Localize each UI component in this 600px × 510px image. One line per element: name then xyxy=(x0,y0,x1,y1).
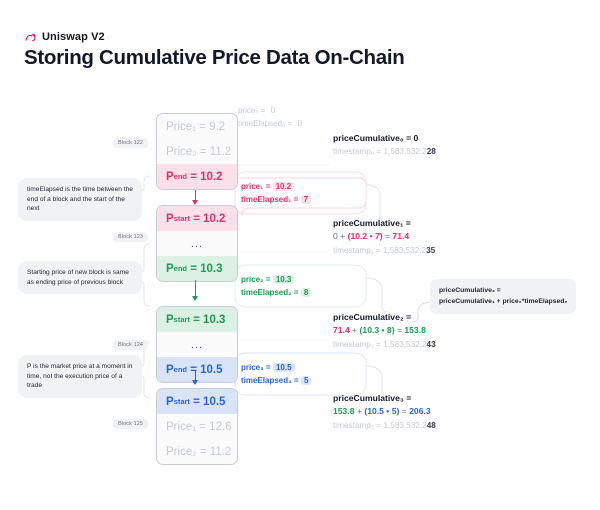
row-text: Price₁ = 9.2 xyxy=(166,121,225,133)
price-label: price₀ = xyxy=(238,106,266,115)
time-label: timeElapsed₀ = xyxy=(238,119,292,128)
price-label: price₃ = xyxy=(241,363,271,372)
formula-line-2: priceCumulative₁ + price₂*timeElapsed₂ xyxy=(439,297,567,308)
unicorn-icon xyxy=(24,30,37,43)
eq-equals: = xyxy=(397,325,402,335)
row-symbol: P xyxy=(166,213,174,225)
eq-plus: + xyxy=(352,325,357,335)
pair-0: price₀ = 0 timeElapsed₀ = 0 xyxy=(238,104,305,130)
time-value: 5 xyxy=(301,376,311,385)
timestamp-suffix: 43 xyxy=(427,340,436,349)
block-row-highlight: Pstart = 10.5 xyxy=(157,389,237,414)
eq-equals: = xyxy=(402,406,407,416)
row-text: Price₂ = 11.2 xyxy=(166,146,231,158)
row-value: = 10.3 xyxy=(193,314,225,326)
cumulative-timestamp: timestamp₁ = 1,583,532,235 xyxy=(333,244,435,258)
price-value: 10.5 xyxy=(273,363,295,372)
pair-price-line: price₂ = 10.3 xyxy=(241,273,311,286)
price-value: 0 xyxy=(268,106,278,115)
timestamp-prefix: timestamp₂ = 1,583,532,2 xyxy=(333,340,427,349)
pair-price-line: price₃ = 10.5 xyxy=(241,361,311,374)
block-label-125: Block 125 xyxy=(113,419,148,429)
arrow-head-124 xyxy=(192,380,198,385)
cumulative-3: priceCumulative₃ = 153.8 + (10.5 • 5) = … xyxy=(333,392,436,433)
eq-term: (10.5 • 5) xyxy=(364,406,399,416)
callout-starting-price: Starting price of new block is same as e… xyxy=(18,261,142,294)
pair-2: price₂ = 10.3 timeElapsed₂ = 8 xyxy=(241,273,311,299)
row-symbol: P xyxy=(166,364,174,376)
row-text: Price₁ = 12.6 xyxy=(166,421,232,433)
row-subscript: end xyxy=(174,264,187,273)
pair-price-line: price₀ = 0 xyxy=(238,104,305,117)
block-card-123[interactable]: Pstart = 10.2 ... Pend = 10.3 xyxy=(156,205,238,282)
row-symbol: P xyxy=(166,396,174,408)
block-card-125[interactable]: Pstart = 10.5 Price₁ = 12.6 Price₂ = 11.… xyxy=(156,388,238,465)
row-symbol: P xyxy=(166,263,174,275)
block-card-122[interactable]: Price₁ = 9.2 Price₂ = 11.2 Pend = 10.2 xyxy=(156,113,238,190)
row-subscript: end xyxy=(174,365,187,374)
cumulative-equation: 0 + (10.2 • 7) = 71.4 xyxy=(333,230,435,244)
block-label-124: Block 124 xyxy=(113,340,148,350)
pair-time-line: timeElapsed₃ = 5 xyxy=(241,374,311,387)
time-label: timeElapsed₂ = xyxy=(241,288,299,297)
brand-name: Uniswap V2 xyxy=(42,31,105,43)
callout-market-price: P is the market price at a moment in tim… xyxy=(18,355,142,398)
eq-plus: + xyxy=(340,231,345,241)
arrow-head-122 xyxy=(192,200,198,205)
price-label: price₁ = xyxy=(241,182,270,191)
eq-operand-a: 71.4 xyxy=(333,325,350,335)
eq-operand-a: 0 xyxy=(333,231,338,241)
pair-1: price₁ = 10.2 timeElapsed₁ = 7 xyxy=(241,180,311,206)
cumulative-header: priceCumulative₁ = xyxy=(333,217,435,230)
pair-time-line: timeElapsed₁ = 7 xyxy=(241,193,311,206)
cumulative-2: priceCumulative₂ = 71.4 + (10.3 • 8) = 1… xyxy=(333,311,436,352)
row-text: ... xyxy=(191,238,203,250)
row-symbol: P xyxy=(166,171,174,183)
timestamp-suffix: 35 xyxy=(426,246,435,255)
slide-canvas: Uniswap V2 Storing Cumulative Price Data… xyxy=(0,0,600,510)
brand: Uniswap V2 xyxy=(24,30,105,43)
eq-plus: + xyxy=(357,406,362,416)
block-row-highlight: Pend = 10.2 xyxy=(157,164,237,189)
eq-result: 153.8 xyxy=(404,325,426,335)
block-row-highlight: Pstart = 10.3 xyxy=(157,307,237,332)
page-title: Storing Cumulative Price Data On-Chain xyxy=(24,46,404,70)
block-row-ellipsis: ... xyxy=(157,332,237,357)
cumulative-timestamp: timestamp₃ = 1,583,532,248 xyxy=(333,419,436,433)
formula-line-1: priceCumulative₂ = xyxy=(439,286,567,297)
cumulative-timestamp: timestamp₀ = 1,583,532,228 xyxy=(333,145,436,159)
arrow-head-123 xyxy=(192,296,198,301)
row-value: = 10.2 xyxy=(193,213,225,225)
formula-callout: priceCumulative₂ = priceCumulative₁ + pr… xyxy=(430,279,576,314)
row-value: = 10.2 xyxy=(190,171,222,183)
row-value: = 10.5 xyxy=(193,396,225,408)
row-text: Price₂ = 11.2 xyxy=(166,446,231,458)
time-label: timeElapsed₃ = xyxy=(241,376,299,385)
eq-term: (10.2 • 7) xyxy=(348,231,383,241)
pair-3: price₃ = 10.5 timeElapsed₃ = 5 xyxy=(241,361,311,387)
timestamp-suffix: 48 xyxy=(427,421,436,430)
timestamp-suffix: 28 xyxy=(427,147,436,156)
row-value: = 10.3 xyxy=(190,263,222,275)
price-value: 10.2 xyxy=(273,182,295,191)
connector-overlay xyxy=(0,0,600,510)
price-value: 10.3 xyxy=(273,275,295,284)
block-card-124[interactable]: Pstart = 10.3 ... Pend = 10.5 xyxy=(156,306,238,383)
block-row: Price₂ = 11.2 xyxy=(157,139,237,164)
eq-operand-a: 153.8 xyxy=(333,406,355,416)
row-subscript: start xyxy=(174,214,190,223)
cumulative-header: priceCumulative₂ = xyxy=(333,311,436,324)
row-subscript: start xyxy=(174,315,190,324)
pair-time-line: timeElapsed₂ = 8 xyxy=(241,286,311,299)
eq-result: 206.3 xyxy=(409,406,431,416)
cumulative-timestamp: timestamp₂ = 1,583,532,243 xyxy=(333,338,436,352)
timestamp-prefix: timestamp₀ = 1,583,532,2 xyxy=(333,147,427,156)
cumulative-header: priceCumulative₀ = 0 xyxy=(333,132,436,145)
cumulative-header: priceCumulative₃ = xyxy=(333,392,436,405)
pair-time-line: timeElapsed₀ = 0 xyxy=(238,117,305,130)
time-value: 0 xyxy=(294,119,304,128)
block-row: Price₁ = 12.6 xyxy=(157,414,237,439)
cumulative-equation: 153.8 + (10.5 • 5) = 206.3 xyxy=(333,405,436,419)
cumulative-0: priceCumulative₀ = 0 timestamp₀ = 1,583,… xyxy=(333,132,436,159)
callout-timeelapsed: timeElapsed is the time between the end … xyxy=(18,178,142,221)
cumulative-equation: 71.4 + (10.3 • 8) = 153.8 xyxy=(333,324,436,338)
pair-price-line: price₁ = 10.2 xyxy=(241,180,311,193)
price-label: price₂ = xyxy=(241,275,271,284)
block-row: Price₁ = 9.2 xyxy=(157,114,237,139)
timestamp-prefix: timestamp₃ = 1,583,532,2 xyxy=(333,421,427,430)
block-row-ellipsis: ... xyxy=(157,231,237,256)
time-value: 8 xyxy=(301,288,311,297)
eq-equals: = xyxy=(385,231,390,241)
block-row-highlight: Pend = 10.3 xyxy=(157,256,237,281)
row-symbol: P xyxy=(166,314,174,326)
block-row-highlight: Pend = 10.5 xyxy=(157,357,237,382)
timestamp-prefix: timestamp₁ = 1,583,532,2 xyxy=(333,246,426,255)
eq-term: (10.3 • 8) xyxy=(360,325,395,335)
block-label-122: Block 122 xyxy=(113,138,148,148)
time-label: timeElapsed₁ = xyxy=(241,195,298,204)
row-subscript: end xyxy=(174,172,187,181)
block-row: Price₂ = 11.2 xyxy=(157,439,237,464)
block-label-123: Block 123 xyxy=(113,232,148,242)
row-subscript: start xyxy=(174,397,190,406)
cumulative-1: priceCumulative₁ = 0 + (10.2 • 7) = 71.4… xyxy=(333,217,435,258)
block-row-highlight: Pstart = 10.2 xyxy=(157,206,237,231)
time-value: 7 xyxy=(301,195,311,204)
eq-result: 71.4 xyxy=(392,231,409,241)
row-text: ... xyxy=(191,339,203,351)
